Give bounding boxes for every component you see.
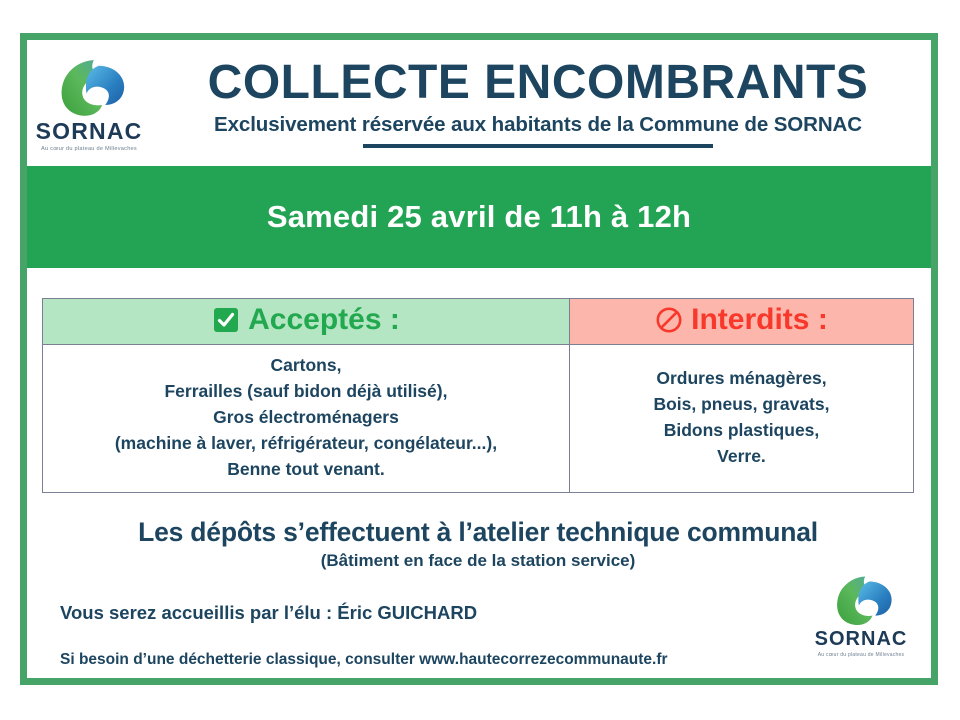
list-item: Cartons, (49, 353, 563, 379)
poster-footer: Les dépôts s’effectuent à l’atelier tech… (27, 493, 931, 669)
header-text-block: COLLECTE ENCOMBRANTS Exclusivement réser… (151, 58, 931, 148)
forbidden-header: Interdits : (655, 305, 828, 335)
table-body-row: Cartons, Ferrailles (sauf bidon déjà uti… (43, 345, 914, 493)
forbidden-header-label: Interdits : (691, 305, 828, 335)
location-sub-text: (Bâtiment en face de la station service) (45, 551, 911, 571)
rules-table-wrap: Acceptés : Interdits : (27, 268, 931, 493)
list-item: Ordures ménagères, (576, 366, 907, 392)
list-item: Bidons plastiques, (576, 418, 907, 444)
accepted-header: Acceptés : (212, 305, 400, 335)
accepted-header-label: Acceptés : (248, 305, 400, 335)
note-text: Si besoin d’une déchetterie classique, c… (45, 651, 911, 669)
list-item: Ferrailles (sauf bidon déjà utilisé), (49, 379, 563, 405)
list-item: Benne tout venant. (49, 457, 563, 483)
host-text: Vous serez accueillis par l’élu : Éric G… (45, 602, 911, 624)
footer-logo: SORNAC Au cœur du plateau de Millevaches (809, 573, 913, 658)
list-item: Gros électroménagers (49, 405, 563, 431)
rules-table: Acceptés : Interdits : (42, 298, 914, 493)
sornac-leaf-logo-icon (47, 56, 131, 118)
logo-wordmark: SORNAC (815, 629, 908, 649)
location-main-text: Les dépôts s’effectuent à l’atelier tech… (45, 517, 911, 548)
table-header-row: Acceptés : Interdits : (43, 299, 914, 345)
poster-frame: SORNAC Au cœur du plateau de Millevaches… (20, 33, 938, 685)
list-item: Verre. (576, 444, 907, 470)
forbidden-header-cell: Interdits : (569, 299, 913, 345)
list-item: (machine à laver, réfrigérateur, congéla… (49, 431, 563, 457)
sornac-leaf-logo-icon (824, 573, 898, 627)
forbidden-items-cell: Ordures ménagères, Bois, pneus, gravats,… (569, 345, 913, 493)
header-logo: SORNAC Au cœur du plateau de Millevaches (27, 54, 151, 152)
page-subtitle: Exclusivement réservée aux habitants de … (214, 113, 862, 137)
title-underline-rule (363, 144, 713, 148)
accepted-items-cell: Cartons, Ferrailles (sauf bidon déjà uti… (43, 345, 570, 493)
date-banner: Samedi 25 avril de 11h à 12h (27, 166, 931, 268)
checked-box-icon (212, 306, 240, 334)
logo-tagline: Au cœur du plateau de Millevaches (41, 146, 137, 152)
date-banner-text: Samedi 25 avril de 11h à 12h (267, 199, 691, 235)
logo-tagline: Au cœur du plateau de Millevaches (818, 652, 905, 658)
list-item: Bois, pneus, gravats, (576, 392, 907, 418)
page-title: COLLECTE ENCOMBRANTS (208, 58, 869, 108)
logo-wordmark: SORNAC (36, 120, 143, 143)
poster-header: SORNAC Au cœur du plateau de Millevaches… (27, 40, 931, 166)
accepted-header-cell: Acceptés : (43, 299, 570, 345)
no-entry-icon (655, 306, 683, 334)
